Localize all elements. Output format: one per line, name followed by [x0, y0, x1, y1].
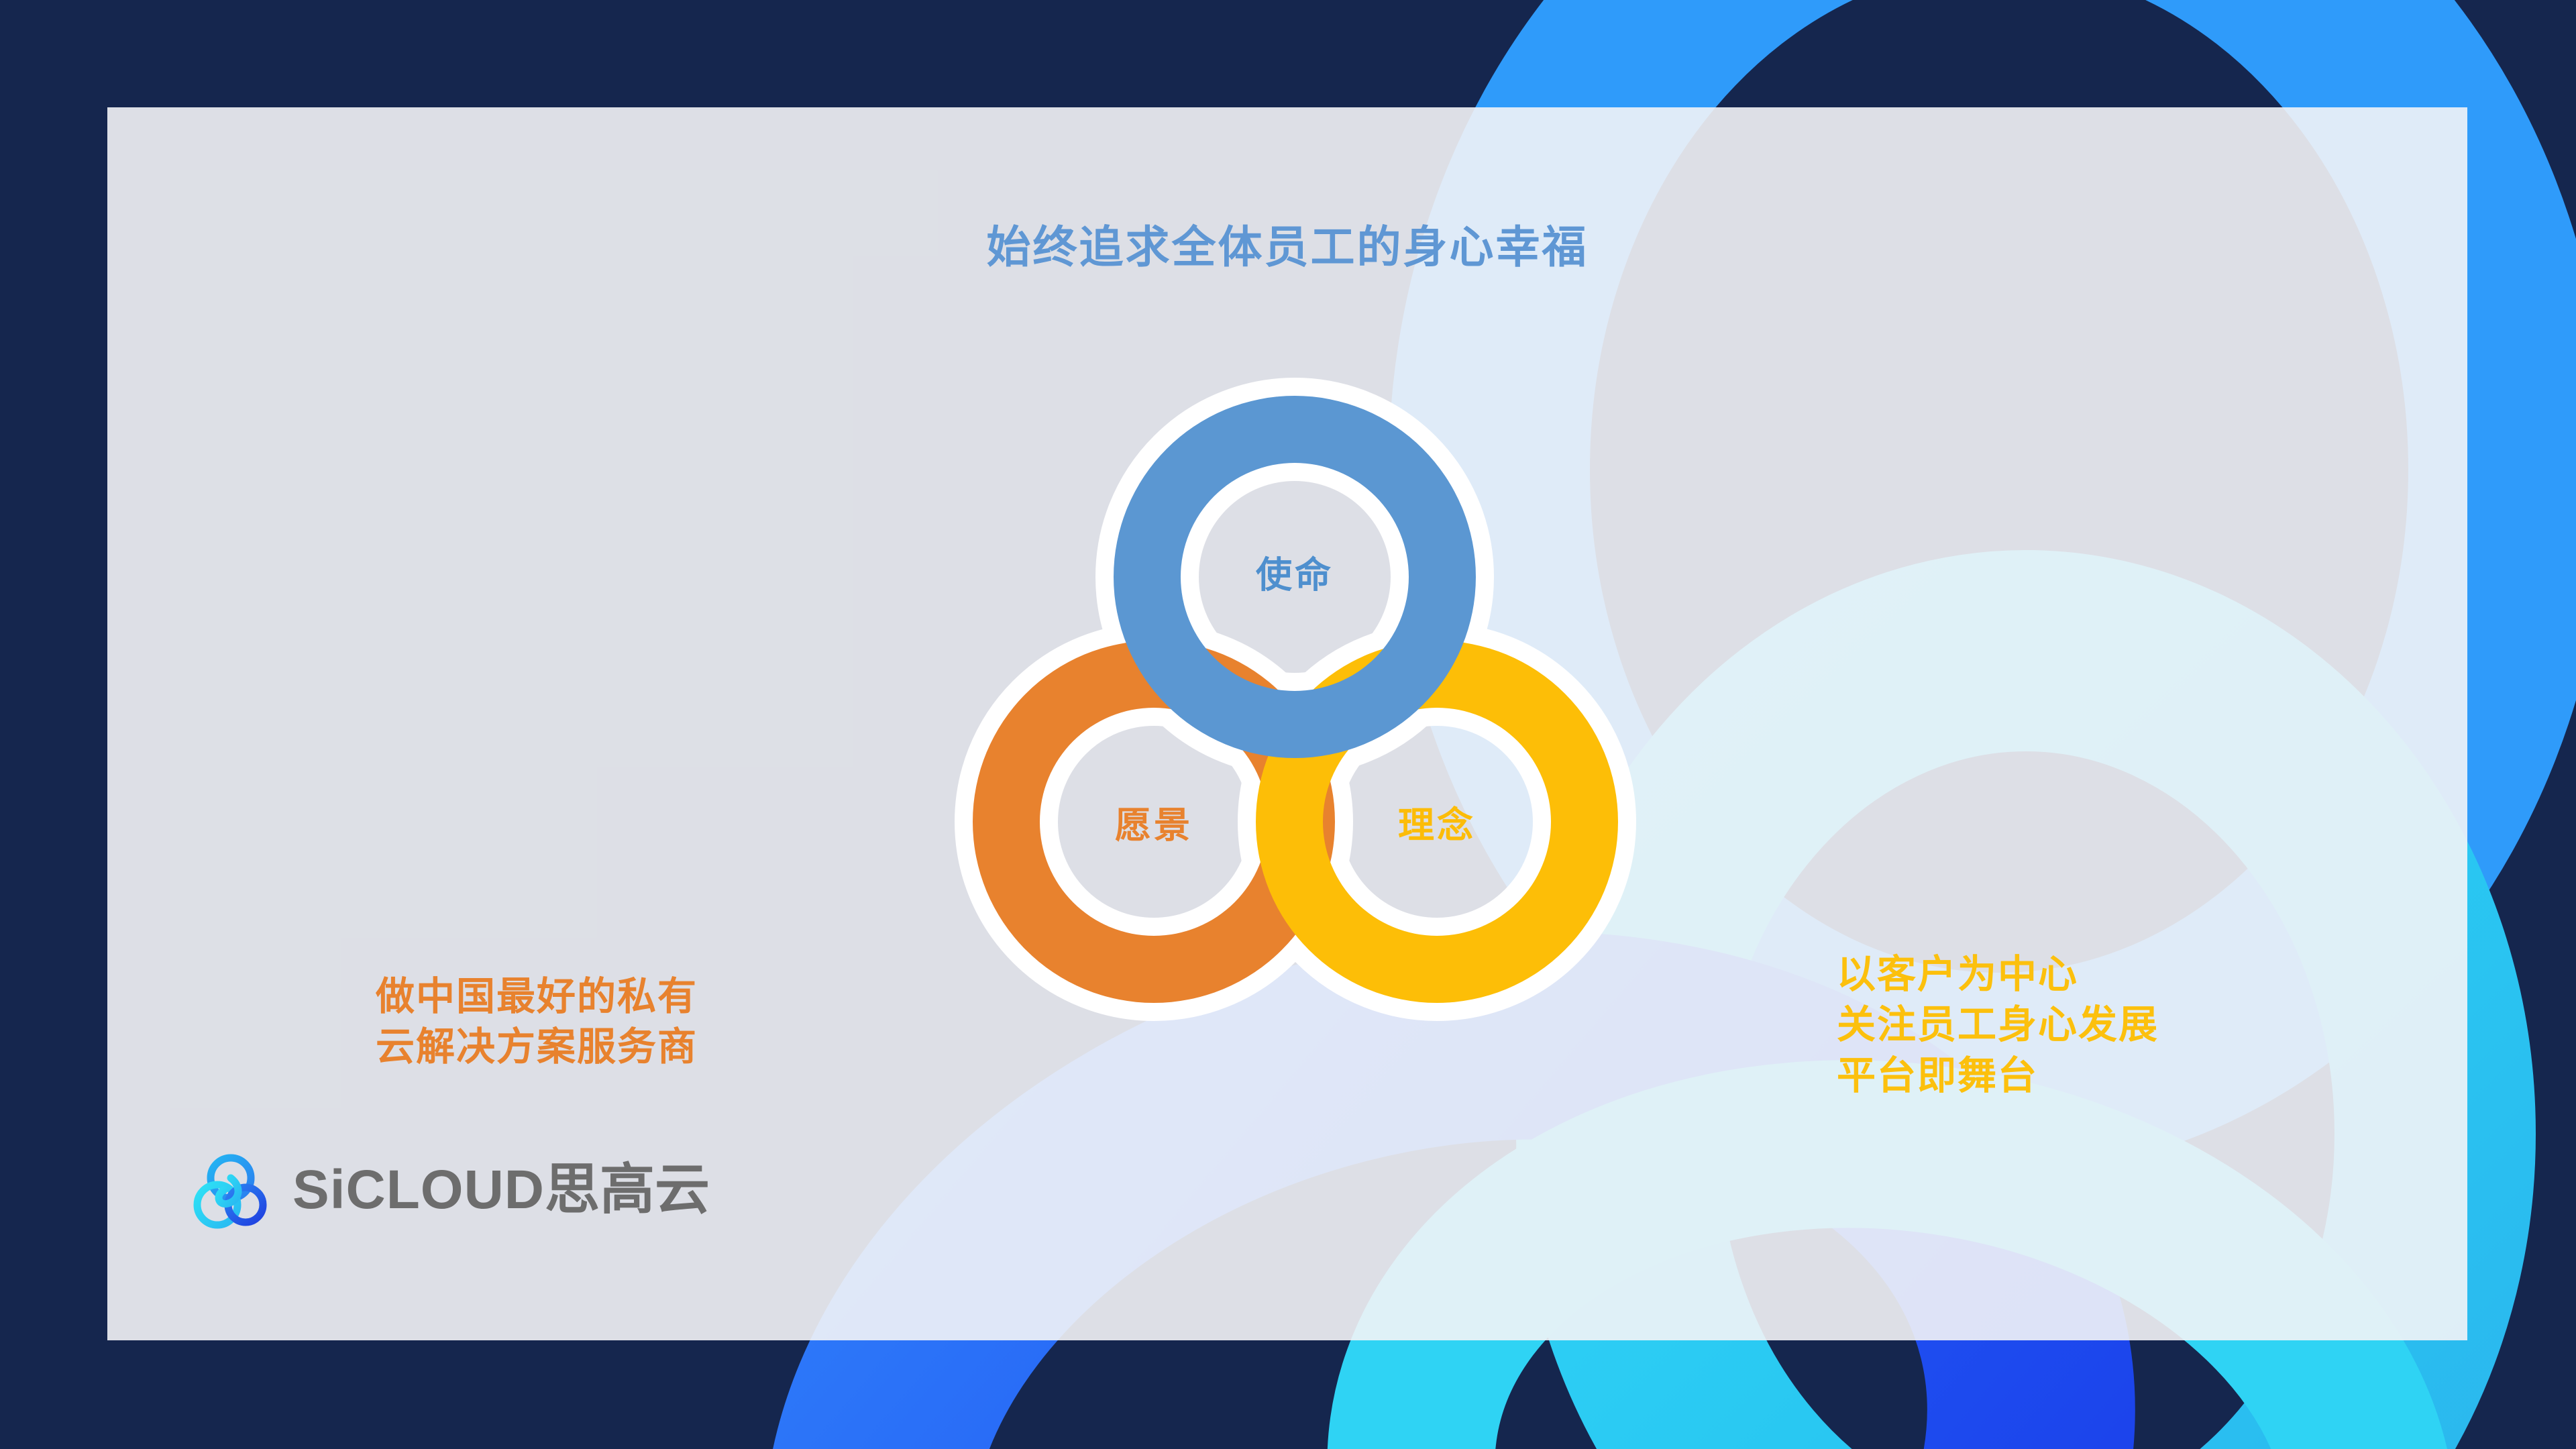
venn-ring-svg — [879, 322, 1717, 1161]
brand-wordmark-cn: 思高云 — [545, 1159, 710, 1220]
sicloud-loop-icon — [186, 1146, 275, 1234]
ring-label-mission: 使命 — [1256, 545, 1334, 598]
brand-logo: SiCLOUD思高云 — [186, 1146, 710, 1234]
content-panel: 始终追求全体员工的身心幸福 — [107, 107, 2467, 1340]
ring-band-mission — [879, 322, 1717, 1161]
slide-canvas: 始终追求全体员工的身心幸福 — [0, 0, 2576, 1449]
ring-label-vision: 愿景 — [1115, 796, 1193, 849]
vision-statement-line-2: 云解决方案服务商 — [376, 1022, 698, 1072]
philosophy-statement-line-3: 平台即舞台 — [1837, 1051, 2159, 1101]
vision-statement-line-1: 做中国最好的私有 — [376, 971, 698, 1022]
philosophy-statement-line-1: 以客户为中心 — [1837, 949, 2159, 1000]
vision-statement-text: 做中国最好的私有 云解决方案服务商 — [376, 971, 698, 1073]
philosophy-statement-line-2: 关注员工身心发展 — [1837, 1000, 2159, 1050]
venn-ring-diagram: 使命 愿景 理念 — [879, 322, 1717, 1161]
ring-label-concept: 理念 — [1398, 796, 1476, 849]
brand-wordmark: SiCLOUD思高云 — [292, 1163, 710, 1218]
page-title: 始终追求全体员工的身心幸福 — [107, 211, 2467, 276]
brand-wordmark-en: SiCLOUD — [292, 1159, 545, 1220]
philosophy-statement-text: 以客户为中心 关注员工身心发展 平台即舞台 — [1837, 949, 2159, 1101]
